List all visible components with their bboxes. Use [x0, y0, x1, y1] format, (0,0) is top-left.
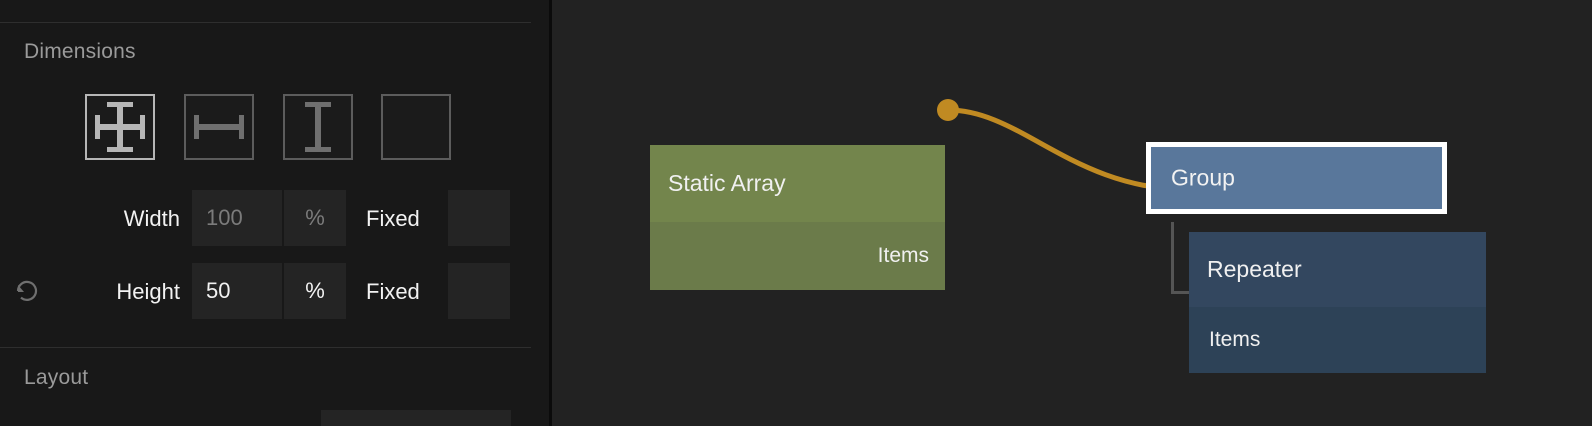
- node-static-array-header[interactable]: Static Array: [650, 145, 945, 222]
- layout-field-partial[interactable]: [321, 410, 511, 426]
- node-static-array-body: Items: [650, 222, 945, 290]
- node-graph-canvas[interactable]: Static Array Items Group Repeater Items: [552, 0, 1592, 426]
- height-extra-input[interactable]: [448, 263, 510, 319]
- both-axes-icon: [87, 96, 153, 158]
- height-value-text: 50: [206, 278, 230, 304]
- node-static-array-title: Static Array: [650, 170, 786, 197]
- properties-sidebar: Dimensions: [0, 0, 549, 426]
- node-repeater-port-items-label[interactable]: Items: [1209, 328, 1260, 352]
- height-unit-select[interactable]: %: [284, 263, 346, 319]
- width-unit-text: %: [305, 205, 325, 231]
- width-row-label: Width: [0, 206, 180, 232]
- node-group-selection-border[interactable]: Group: [1146, 142, 1447, 214]
- node-repeater[interactable]: Repeater Items: [1189, 232, 1486, 373]
- horizontal-axis-icon: [186, 96, 252, 158]
- section-title-dimensions: Dimensions: [24, 40, 136, 64]
- section-title-layout: Layout: [24, 366, 88, 390]
- width-mode-label[interactable]: Fixed: [366, 206, 420, 232]
- node-group-title: Group: [1171, 165, 1235, 192]
- width-extra-input[interactable]: [448, 190, 510, 246]
- height-value-input[interactable]: 50: [192, 263, 282, 319]
- node-group[interactable]: Group: [1146, 142, 1447, 214]
- height-unit-text: %: [305, 278, 325, 304]
- sidebar-divider-top: [0, 22, 531, 23]
- vertical-axis-icon: [285, 96, 351, 158]
- width-value-text: 100: [206, 205, 243, 231]
- width-value-input[interactable]: 100: [192, 190, 282, 246]
- app-root: Dimensions: [0, 0, 1592, 426]
- node-static-array[interactable]: Static Array Items: [650, 145, 945, 290]
- node-repeater-title: Repeater: [1189, 256, 1302, 283]
- empty-box-icon: [383, 96, 449, 158]
- height-mode-label[interactable]: Fixed: [366, 279, 420, 305]
- node-repeater-body: Items: [1189, 307, 1486, 373]
- width-unit-select[interactable]: %: [284, 190, 346, 246]
- port-output-static-items[interactable]: [937, 99, 959, 121]
- node-repeater-header[interactable]: Repeater: [1189, 232, 1486, 307]
- dimension-mode-both-axes-button[interactable]: [85, 94, 155, 160]
- dimension-mode-horizontal-button[interactable]: [184, 94, 254, 160]
- dimension-mode-vertical-button[interactable]: [283, 94, 353, 160]
- height-row-label: Height: [0, 279, 180, 305]
- sidebar-divider-layout: [0, 347, 531, 348]
- node-static-array-port-items-label[interactable]: Items: [878, 244, 929, 268]
- dimension-mode-none-button[interactable]: [381, 94, 451, 160]
